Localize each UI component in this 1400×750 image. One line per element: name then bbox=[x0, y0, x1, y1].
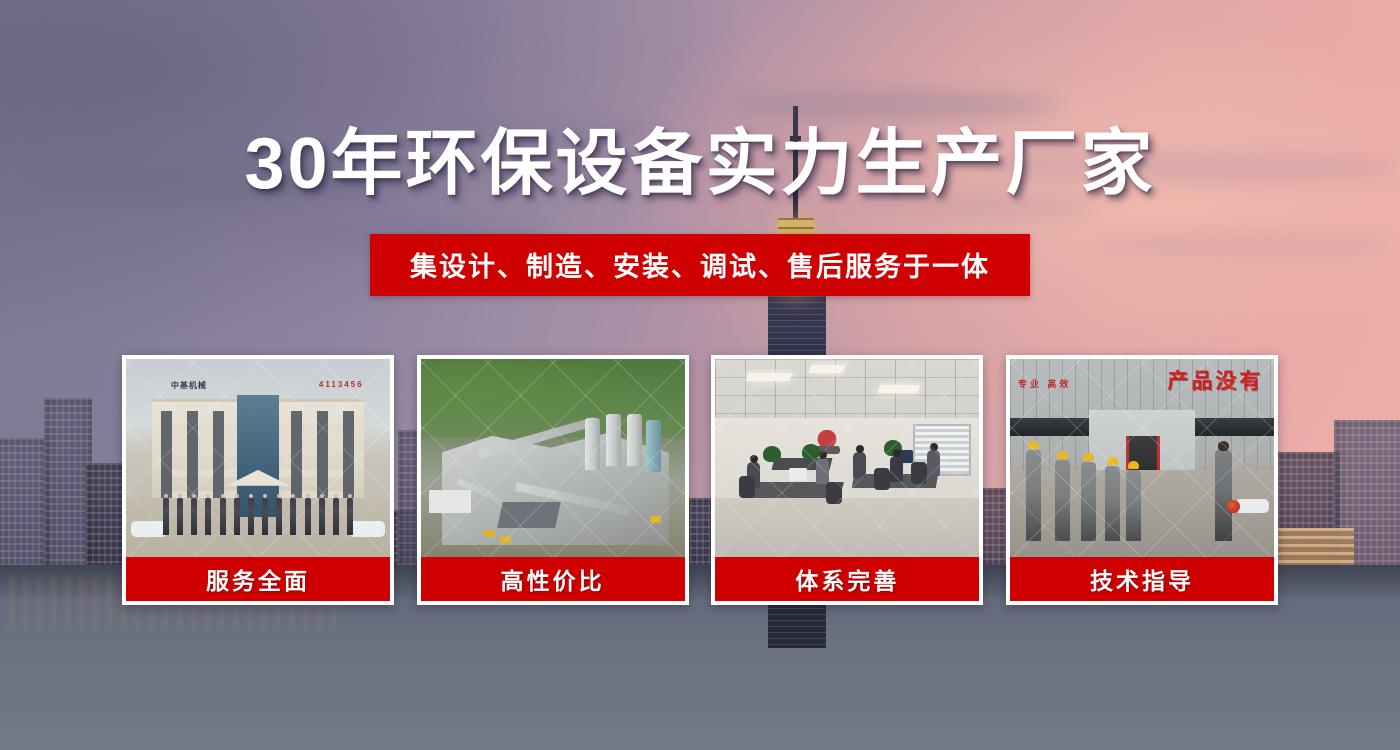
office-chair bbox=[911, 462, 927, 484]
staff-figure bbox=[163, 498, 169, 536]
storage-silo bbox=[646, 420, 661, 471]
worker-figure bbox=[1126, 470, 1141, 541]
subtitle-container: 集设计、制造、安装、调试、售后服务于一体 bbox=[0, 234, 1400, 296]
construction-vehicle bbox=[484, 530, 495, 537]
feature-card[interactable]: 中基机械 4113456 bbox=[122, 355, 394, 605]
office-worker bbox=[927, 450, 940, 476]
potted-plant bbox=[763, 446, 781, 462]
feature-card[interactable]: 专业 高效 产品没有 技术指导 bbox=[1006, 355, 1278, 605]
card-label: 高性价比 bbox=[421, 557, 685, 601]
staff-figure bbox=[347, 498, 353, 536]
staff-figure bbox=[220, 498, 226, 536]
factory-yard bbox=[1010, 470, 1274, 557]
ceiling-light bbox=[878, 385, 921, 393]
storage-silo bbox=[627, 414, 642, 465]
staff-figure bbox=[177, 498, 183, 536]
construction-vehicle bbox=[650, 516, 661, 523]
subtitle-badge: 集设计、制造、安装、调试、售后服务于一体 bbox=[370, 234, 1030, 296]
staff-figure bbox=[248, 498, 254, 536]
card-label: 技术指导 bbox=[1010, 557, 1274, 601]
instructor-figure bbox=[1215, 450, 1232, 541]
staff-figure bbox=[262, 498, 268, 536]
card-photo-office-building: 中基机械 4113456 bbox=[126, 359, 390, 557]
cloud-streak bbox=[728, 90, 1058, 120]
office-chair bbox=[826, 482, 842, 504]
staff-figure bbox=[191, 498, 197, 536]
ceiling-light bbox=[746, 373, 793, 381]
staff-figure bbox=[319, 498, 325, 536]
worker-figure bbox=[1105, 466, 1120, 541]
office-worker bbox=[890, 456, 903, 482]
warehouse-roof bbox=[497, 502, 561, 528]
office-worker bbox=[853, 452, 866, 478]
parked-car bbox=[1235, 499, 1269, 513]
feature-card[interactable]: 体系完善 bbox=[711, 355, 983, 605]
card-photo-office-interior bbox=[715, 359, 979, 557]
construction-vehicle bbox=[500, 536, 511, 543]
card-photo-factory-aerial bbox=[421, 359, 685, 557]
worker-figure bbox=[1055, 460, 1070, 541]
staff-figure bbox=[205, 498, 211, 536]
promo-banner: 30年环保设备实力生产厂家 集设计、制造、安装、调试、售后服务于一体 中基机械 … bbox=[0, 0, 1400, 750]
building-phone-text: 4113456 bbox=[319, 380, 364, 389]
office-chair bbox=[739, 476, 755, 498]
card-photo-worker-training: 专业 高效 产品没有 bbox=[1010, 359, 1274, 557]
office-ceiling bbox=[715, 359, 979, 422]
parked-car bbox=[131, 521, 167, 537]
office-chair bbox=[874, 468, 890, 490]
parked-car bbox=[349, 521, 385, 537]
storage-silo bbox=[585, 418, 600, 469]
staff-figure bbox=[305, 498, 311, 536]
staff-lineup bbox=[163, 498, 353, 536]
building-sign-text: 中基机械 bbox=[171, 380, 207, 391]
card-label: 体系完善 bbox=[715, 557, 979, 601]
desk-monitor bbox=[789, 468, 807, 481]
worker-figure bbox=[1026, 450, 1041, 541]
office-floor bbox=[715, 498, 979, 557]
factory-slogan-text: 专业 高效 bbox=[1018, 377, 1072, 390]
factory-sign-text: 产品没有 bbox=[1167, 365, 1263, 395]
feature-card[interactable]: 高性价比 bbox=[417, 355, 689, 605]
staff-figure bbox=[276, 498, 282, 536]
staff-figure bbox=[333, 498, 339, 536]
feature-card-list: 中基机械 4113456 bbox=[122, 355, 1278, 605]
storage-silo bbox=[606, 414, 621, 465]
staff-figure bbox=[290, 498, 296, 536]
worker-figure bbox=[1081, 462, 1096, 541]
staff-figure bbox=[234, 498, 240, 536]
ceiling-light bbox=[809, 365, 846, 373]
card-label: 服务全面 bbox=[126, 557, 390, 601]
warehouse-roof bbox=[429, 490, 471, 514]
page-title: 30年环保设备实力生产厂家 bbox=[0, 128, 1400, 200]
office-worker bbox=[816, 458, 829, 484]
